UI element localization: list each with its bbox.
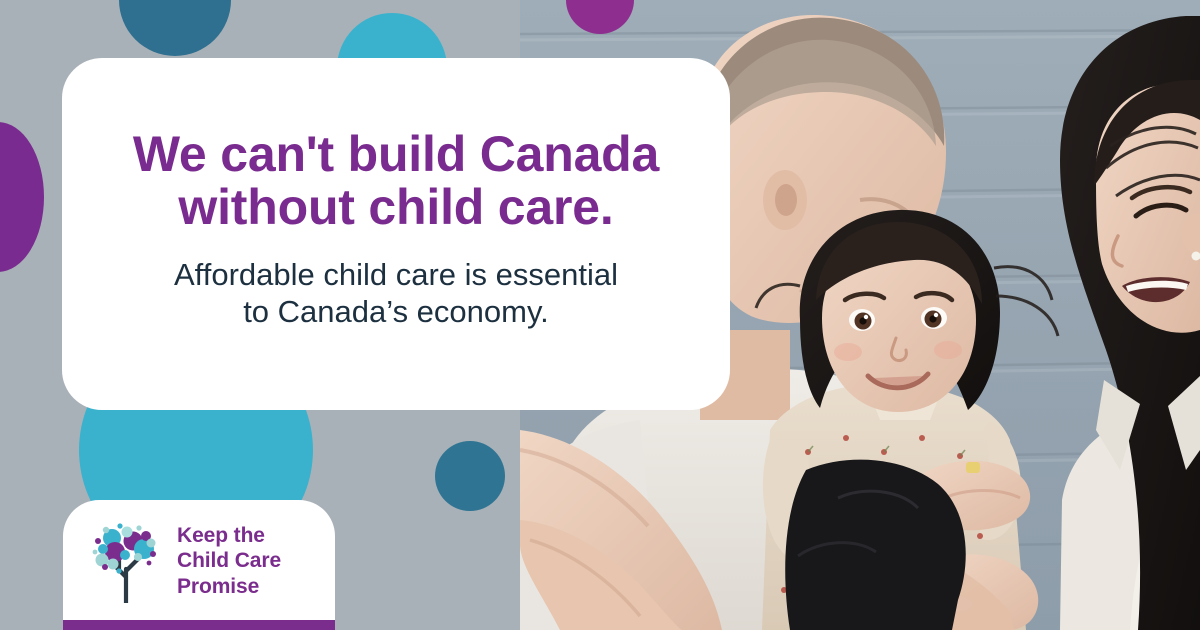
decor-circle-mid-navy: [435, 441, 505, 511]
logo-wordmark: Keep the Child Care Promise: [177, 523, 281, 600]
logo-card: Keep the Child Care Promise: [63, 500, 335, 620]
logo-line-2: Child Care: [177, 548, 281, 574]
headline-line-2: without child care.: [133, 181, 659, 234]
logo-line-3: Promise: [177, 574, 281, 600]
subheading-line-2: to Canada’s economy.: [174, 293, 618, 330]
subheading: Affordable child care is essential to Ca…: [174, 256, 618, 330]
subheading-line-1: Affordable child care is essential: [174, 256, 618, 293]
logo-line-1: Keep the: [177, 523, 281, 549]
tree-logo-icon: [89, 519, 163, 603]
headline-line-1: We can't build Canada: [133, 128, 659, 181]
page-title: We can't build Canada without child care…: [133, 128, 659, 234]
logo-accent-bar: [63, 620, 335, 630]
message-card: We can't build Canada without child care…: [62, 58, 730, 410]
poster-canvas: We can't build Canada without child care…: [0, 0, 1200, 630]
